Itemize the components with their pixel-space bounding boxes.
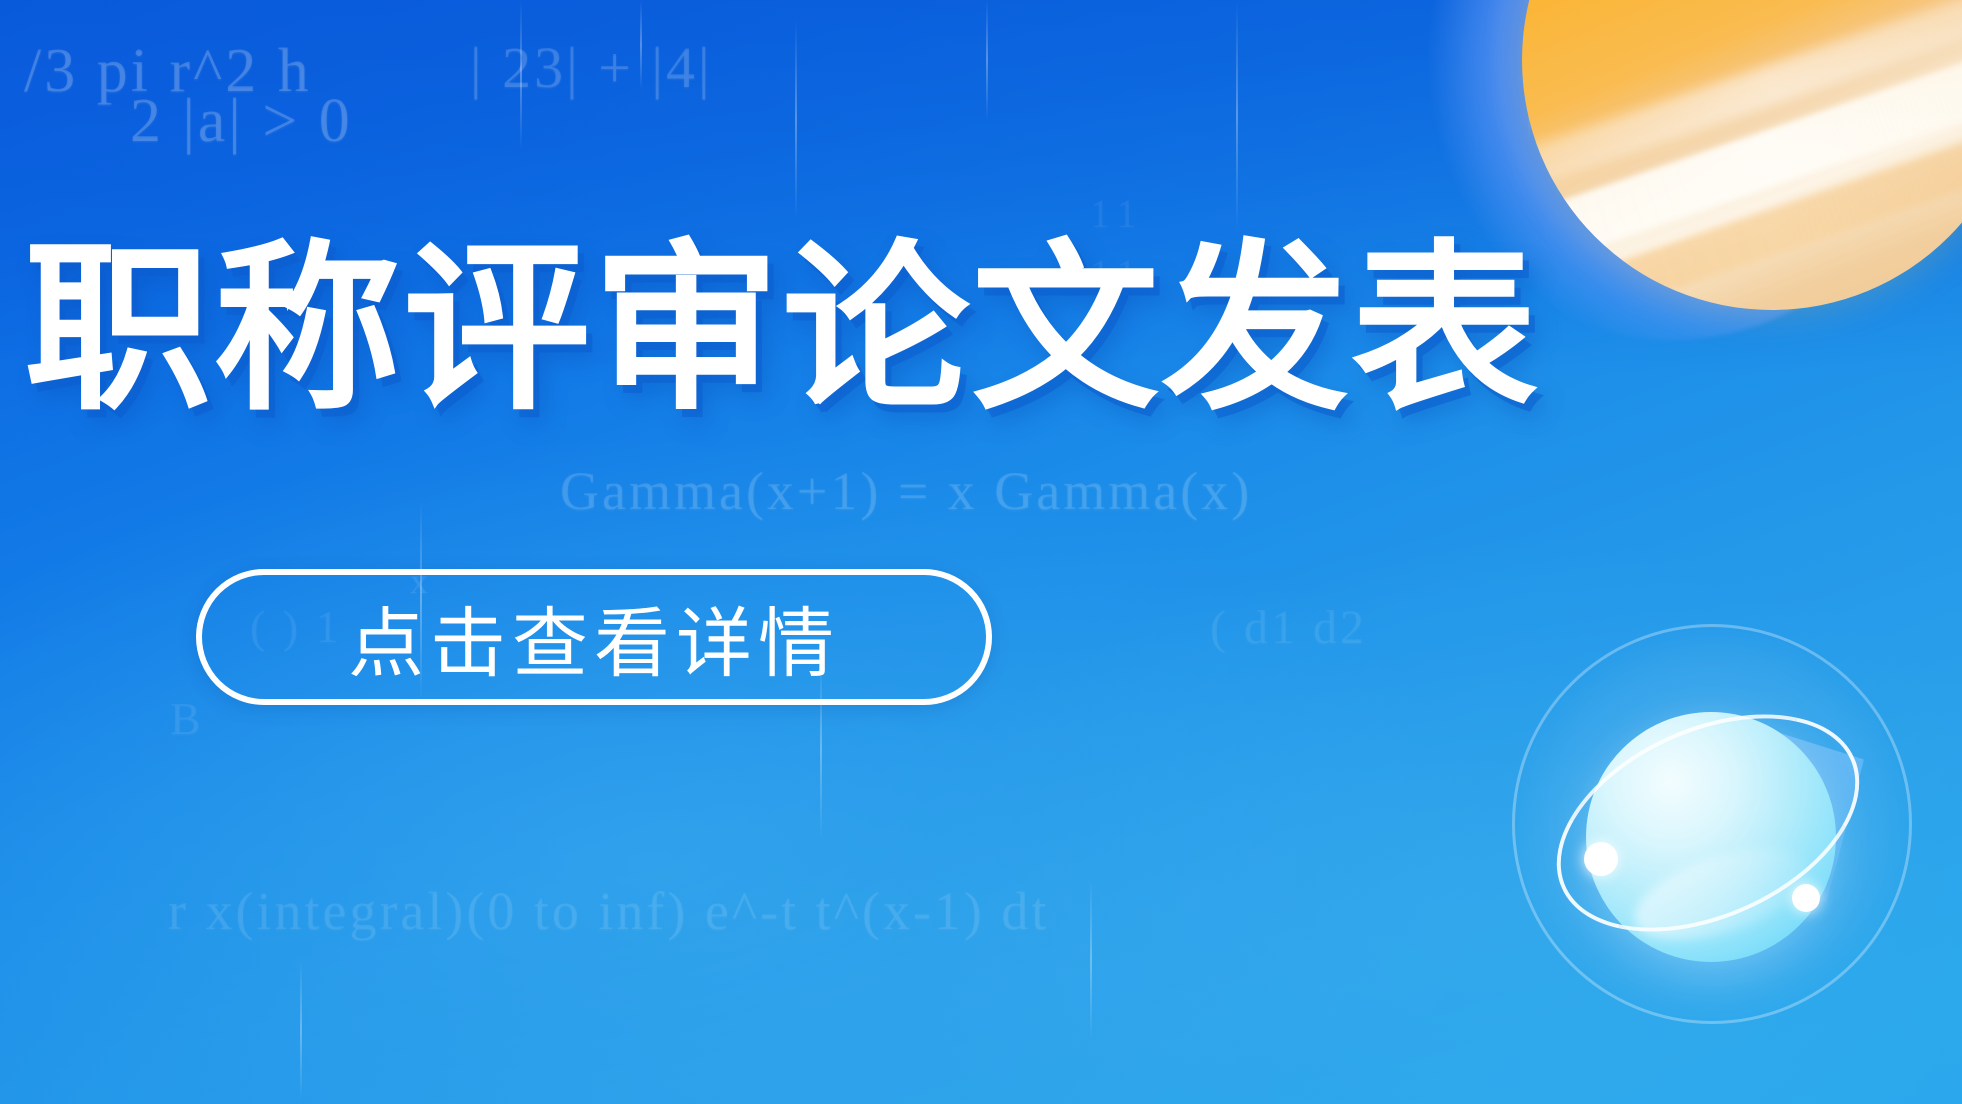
math-line-4: Gamma(x+1) = x Gamma(x)	[560, 460, 1252, 522]
atom-orbit-graphic	[1504, 616, 1924, 1036]
streak-line-10	[1090, 880, 1092, 1040]
saturn-planet-graphic	[1482, 0, 1962, 370]
planet-band-lower	[1522, 110, 1962, 310]
atom-electron-dot-1	[1584, 842, 1618, 876]
streak-line-4	[986, 0, 988, 120]
promo-banner: /3 pi r^2 h | 23| + |4| 2 |a| > 0 Gamma(…	[0, 0, 1962, 1104]
math-line-5: r x(integral)(0 to inf) e^-t t^(x-1) dt	[168, 880, 1049, 942]
atom-core-sphere	[1586, 712, 1836, 962]
planet-band-cream	[1522, 31, 1962, 285]
streak-line-9	[300, 960, 302, 1100]
atom-electron-dot-2	[1792, 884, 1820, 912]
streak-line-6	[1528, 25, 1530, 145]
background-glow-left	[0, 420, 1530, 1104]
view-details-button-label: 点击查看详情	[348, 582, 840, 692]
streak-line-2	[640, 0, 642, 90]
page-title: 职称评审论文发表	[24, 238, 1540, 420]
math-formula-watermark: /3 pi r^2 h | 23| + |4| 2 |a| > 0 Gamma(…	[0, 0, 1962, 1104]
streak-line-3	[795, 20, 797, 220]
atom-core-highlight	[1624, 831, 1818, 958]
streak-line-1	[520, 0, 522, 150]
view-details-button[interactable]: 点击查看详情	[196, 569, 992, 705]
math-line-2: | 23| + |4|	[470, 34, 713, 101]
math-line-3: 2 |a| > 0	[130, 86, 353, 157]
planet-band-upper	[1522, 0, 1962, 205]
planet-sphere	[1522, 0, 1962, 310]
streak-line-5	[1236, 0, 1238, 230]
math-line-1: /3 pi r^2 h	[24, 36, 312, 107]
atom-wedge-shape	[1729, 728, 1864, 903]
atom-outer-ring	[1512, 624, 1912, 1024]
math-line-6: B	[170, 692, 204, 745]
math-line-7: ( d1 d2	[1210, 600, 1367, 655]
background-glow-right	[903, 530, 1962, 1104]
atom-orbit-ellipse	[1523, 671, 1893, 975]
